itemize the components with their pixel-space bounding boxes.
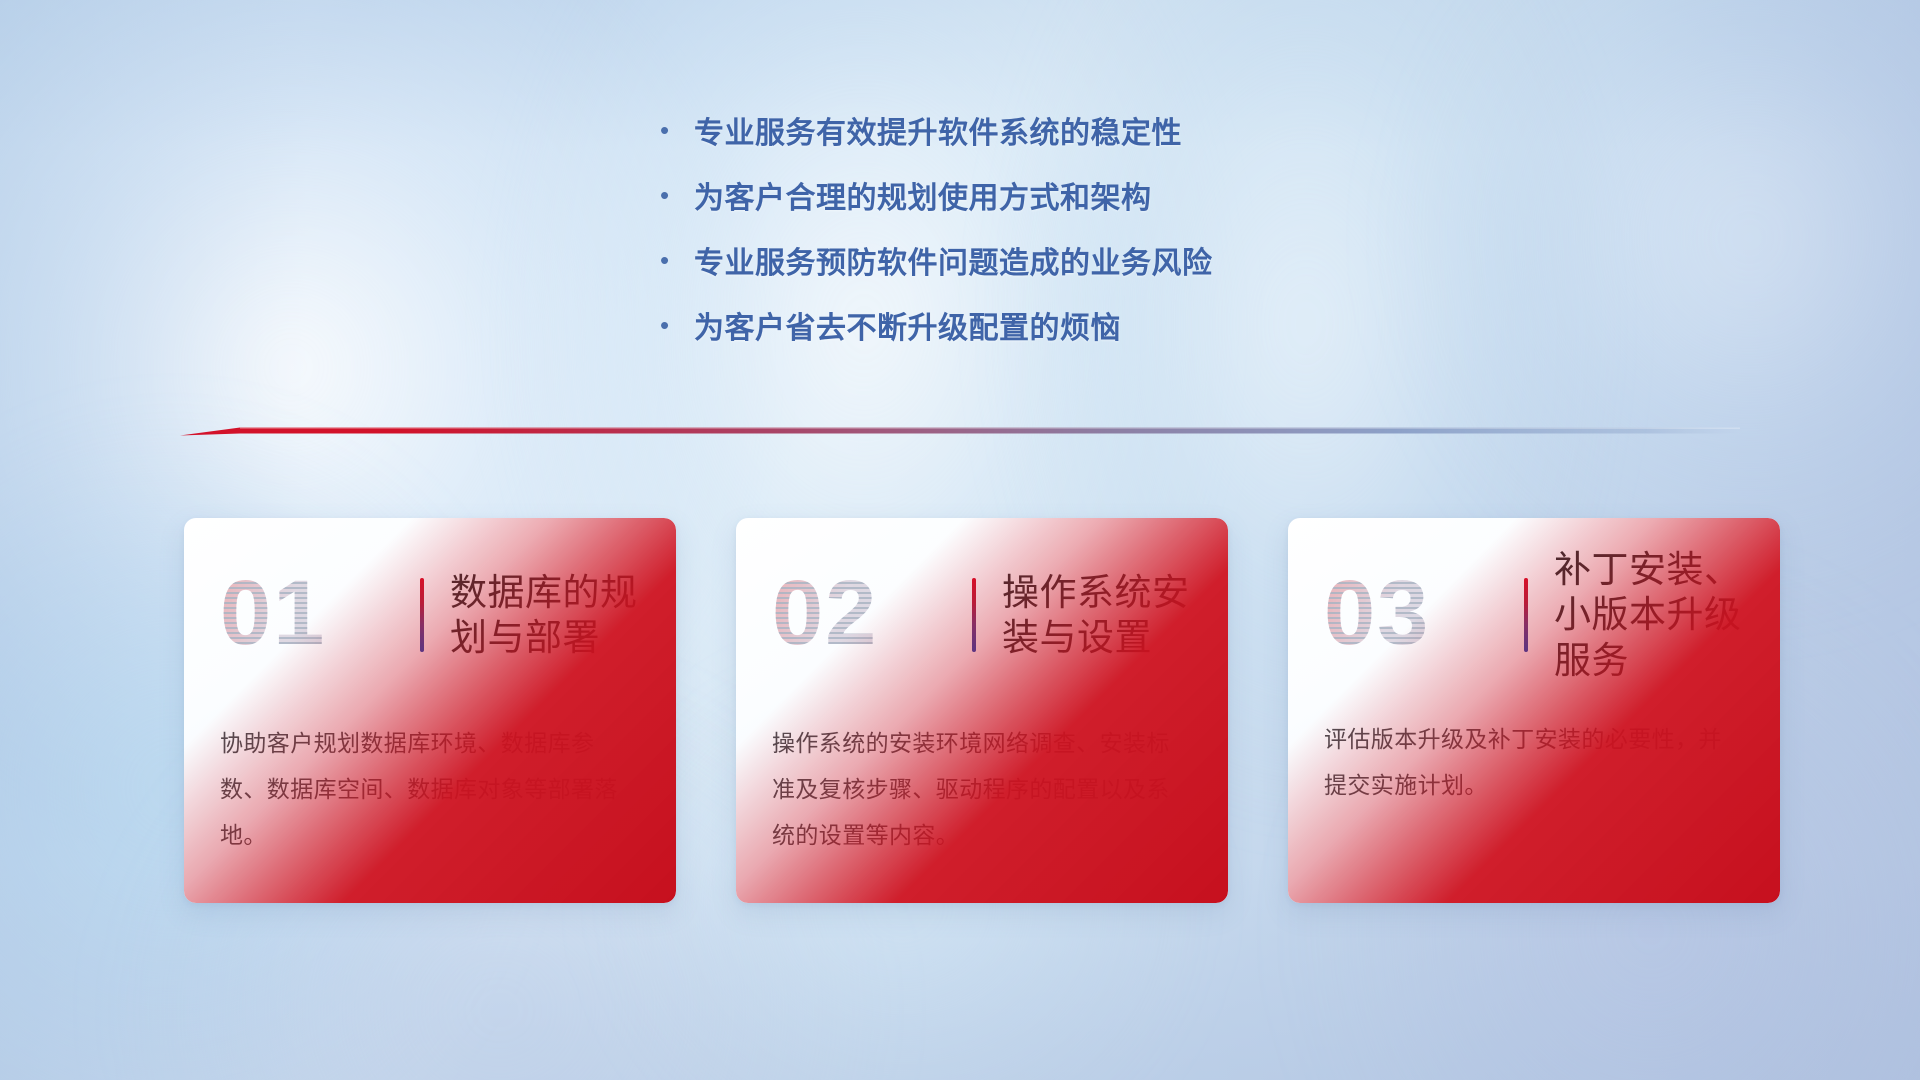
card-divider-bar (420, 578, 424, 652)
card-number: 01 (220, 567, 420, 659)
bullet-label: 为客户省去不断升级配置的烦恼 (694, 303, 1121, 347)
slide-content: • 专业服务有效提升软件系统的稳定性 • 为客户合理的规划使用方式和架构 • 专… (0, 0, 1920, 1080)
bullet-marker-icon: • (660, 117, 694, 143)
card-divider-bar (972, 578, 976, 652)
section-divider (180, 420, 1740, 446)
card-title: 数据库的规划与部署 (450, 570, 646, 660)
bullet-label: 为客户合理的规划使用方式和架构 (694, 173, 1152, 217)
bullet-item: • 专业服务有效提升软件系统的稳定性 (660, 108, 1420, 173)
card-divider-bar (1524, 578, 1528, 652)
service-card[interactable]: 02 操作系统安装与设置 操作系统的安装环境网络调查、安装标准及复核步骤、驱动程… (736, 518, 1228, 903)
card-header: 01 数据库的规划与部署 (220, 556, 646, 674)
card-number: 03 (1324, 567, 1524, 659)
bullet-label: 专业服务有效提升软件系统的稳定性 (694, 108, 1182, 152)
card-title: 补丁安装、小版本升级服务 (1554, 547, 1750, 682)
bullet-item: • 为客户省去不断升级配置的烦恼 (660, 303, 1420, 368)
card-content: 01 数据库的规划与部署 协助客户规划数据库环境、数据库参数、数据库空间、数据库… (184, 518, 676, 903)
card-number: 02 (772, 567, 972, 659)
service-card[interactable]: 03 补丁安装、小版本升级服务 评估版本升级及补丁安装的必要性，并提交实施计划。 (1288, 518, 1780, 903)
card-content: 03 补丁安装、小版本升级服务 评估版本升级及补丁安装的必要性，并提交实施计划。 (1288, 518, 1780, 903)
card-title: 操作系统安装与设置 (1002, 570, 1198, 660)
service-card[interactable]: 01 数据库的规划与部署 协助客户规划数据库环境、数据库参数、数据库空间、数据库… (184, 518, 676, 903)
card-header: 02 操作系统安装与设置 (772, 556, 1198, 674)
service-card-list: 01 数据库的规划与部署 协助客户规划数据库环境、数据库参数、数据库空间、数据库… (184, 518, 1784, 918)
bullet-marker-icon: • (660, 312, 694, 338)
bullet-marker-icon: • (660, 247, 694, 273)
card-description: 操作系统的安装环境网络调查、安装标准及复核步骤、驱动程序的配置以及系统的设置等内… (772, 720, 1192, 858)
benefits-bullet-list: • 专业服务有效提升软件系统的稳定性 • 为客户合理的规划使用方式和架构 • 专… (660, 108, 1420, 368)
bullet-marker-icon: • (660, 182, 694, 208)
bullet-label: 专业服务预防软件问题造成的业务风险 (694, 238, 1213, 282)
card-content: 02 操作系统安装与设置 操作系统的安装环境网络调查、安装标准及复核步骤、驱动程… (736, 518, 1228, 903)
bullet-item: • 为客户合理的规划使用方式和架构 (660, 173, 1420, 238)
divider-shape-icon (180, 420, 1740, 446)
bullet-item: • 专业服务预防软件问题造成的业务风险 (660, 238, 1420, 303)
card-header: 03 补丁安装、小版本升级服务 (1324, 556, 1750, 674)
card-description: 评估版本升级及补丁安装的必要性，并提交实施计划。 (1324, 716, 1744, 808)
card-description: 协助客户规划数据库环境、数据库参数、数据库空间、数据库对象等部署落地。 (220, 720, 640, 858)
